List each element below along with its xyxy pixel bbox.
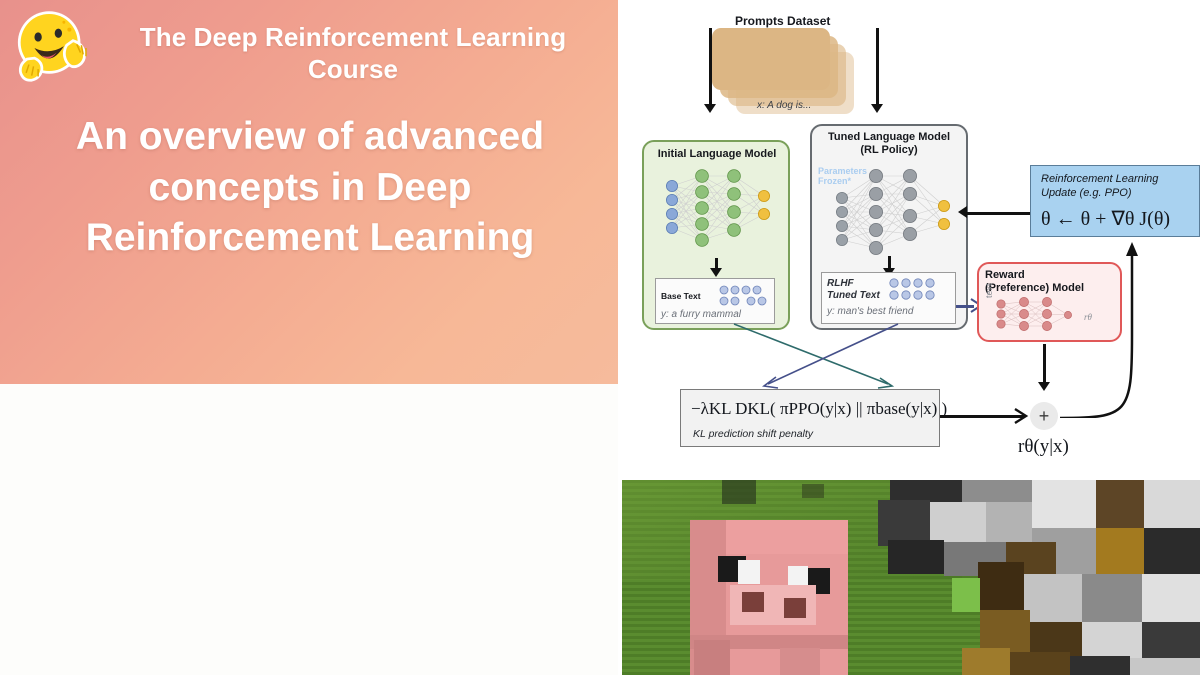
terrain-block xyxy=(1024,574,1082,622)
kl-penalty-formula: −λKL DKL( πPPO(y|x) || πbase(y|x) ) xyxy=(691,399,947,419)
prompt-example-text: x: A dog is... xyxy=(757,100,811,111)
dataset-to-tuned-arrow-stem xyxy=(876,28,879,106)
base-text-label: Base Text xyxy=(661,291,701,301)
prompt-card-front xyxy=(712,28,830,90)
grass-shadow-patch xyxy=(722,480,756,504)
hugging-face-emoji-icon xyxy=(2,2,100,94)
terrain-block xyxy=(1130,658,1200,675)
prompts-dataset-label: Prompts Dataset xyxy=(735,14,830,29)
terrain-block xyxy=(1070,656,1130,675)
kl-input-connectors xyxy=(712,320,942,392)
pig-nostril-left xyxy=(742,592,764,612)
rl-update-to-tuned-arrow xyxy=(967,212,1030,215)
pig-nostril-right xyxy=(784,598,806,618)
dataset-to-initial-arrow-stem xyxy=(709,28,712,106)
rlhf-text-label-line2: Tuned Text xyxy=(827,290,880,301)
reward-to-sum-arrow-stem xyxy=(1043,344,1046,386)
terrain-block xyxy=(962,648,1010,675)
reward-to-sum-arrow-head xyxy=(1038,382,1050,391)
kl-to-sum-arrow xyxy=(940,415,1024,418)
dataset-to-tuned-arrow-head xyxy=(871,104,883,113)
pig-eye-left-white xyxy=(738,560,760,584)
page-title: An overview of advanced concepts in Deep… xyxy=(30,112,590,264)
base-text-token-dots-icon xyxy=(718,284,772,306)
right-column: Prompts Dataset x: A dog is... Initial L… xyxy=(622,0,1200,675)
initial-language-model-title: Initial Language Model xyxy=(652,148,782,161)
terrain-block xyxy=(1096,528,1144,574)
rlhf-text-label-line1: RLHF xyxy=(827,278,854,289)
initial-model-network-icon xyxy=(658,168,778,260)
kl-penalty-box: −λKL DKL( πPPO(y|x) || πbase(y|x) ) KL p… xyxy=(680,389,940,447)
terrain-block xyxy=(1032,480,1096,528)
terrain-block xyxy=(1082,574,1142,622)
grass-shadow-patch xyxy=(802,484,824,498)
pig-leg-right xyxy=(780,648,820,675)
dataset-to-initial-arrow-head xyxy=(704,104,716,113)
title-banner: The Deep Reinforcement Learning Course A… xyxy=(0,0,618,384)
pig-leg-left xyxy=(694,640,730,675)
base-text-box: Base Text y: a furry mammal xyxy=(655,278,775,324)
rlhf-diagram: Prompts Dataset x: A dog is... Initial L… xyxy=(622,0,1200,478)
reward-feedback-curve xyxy=(1054,236,1174,418)
terrain-block xyxy=(1142,622,1200,662)
kl-to-sum-arrow-head xyxy=(1014,408,1030,424)
rl-update-formula: θ ← θ + ∇θ J(θ) xyxy=(1041,206,1170,231)
terrain-block xyxy=(1144,528,1200,574)
terrain-block xyxy=(978,562,1024,610)
terrain-block xyxy=(1142,574,1200,622)
tuned-language-model-title: Tuned Language Model (RL Policy) xyxy=(822,131,956,158)
minecraft-screenshot xyxy=(622,480,1200,675)
rl-update-caption: Reinforcement Learning Update (e.g. PPO) xyxy=(1041,173,1191,201)
left-column: The Deep Reinforcement Learning Course A… xyxy=(0,0,618,675)
terrain-block xyxy=(888,540,944,574)
rl-update-to-tuned-arrow-head xyxy=(958,206,967,218)
reward-model-input-label: text xyxy=(984,283,994,298)
decision-transformer-figure: a t-1 a t causal transformer xyxy=(0,384,618,675)
base-text-output: y: a furry mammal xyxy=(661,309,741,320)
tuned-model-network-icon xyxy=(828,168,958,264)
rlhf-text-output: y: man's best friend xyxy=(827,306,913,317)
sum-node: + xyxy=(1030,402,1058,430)
terrain-block xyxy=(1096,480,1144,528)
slide-root: The Deep Reinforcement Learning Course A… xyxy=(0,0,1200,675)
sum-node-symbol: + xyxy=(1039,406,1050,427)
rlhf-tuned-text-box: RLHF Tuned Text y: man's best friend xyxy=(821,272,956,324)
kl-penalty-caption: KL prediction shift penalty xyxy=(693,428,813,440)
rl-update-box: Reinforcement Learning Update (e.g. PPO)… xyxy=(1030,165,1200,237)
rlhf-text-token-dots-icon xyxy=(888,277,950,301)
course-title: The Deep Reinforcement Learning Course xyxy=(98,22,608,85)
terrain-block xyxy=(1010,652,1070,675)
terrain-grass-block xyxy=(952,578,980,612)
reward-output-label: rθ(y|x) xyxy=(1018,436,1069,458)
initial-model-to-text-arrow-head xyxy=(710,268,722,277)
terrain-block xyxy=(1144,480,1200,528)
